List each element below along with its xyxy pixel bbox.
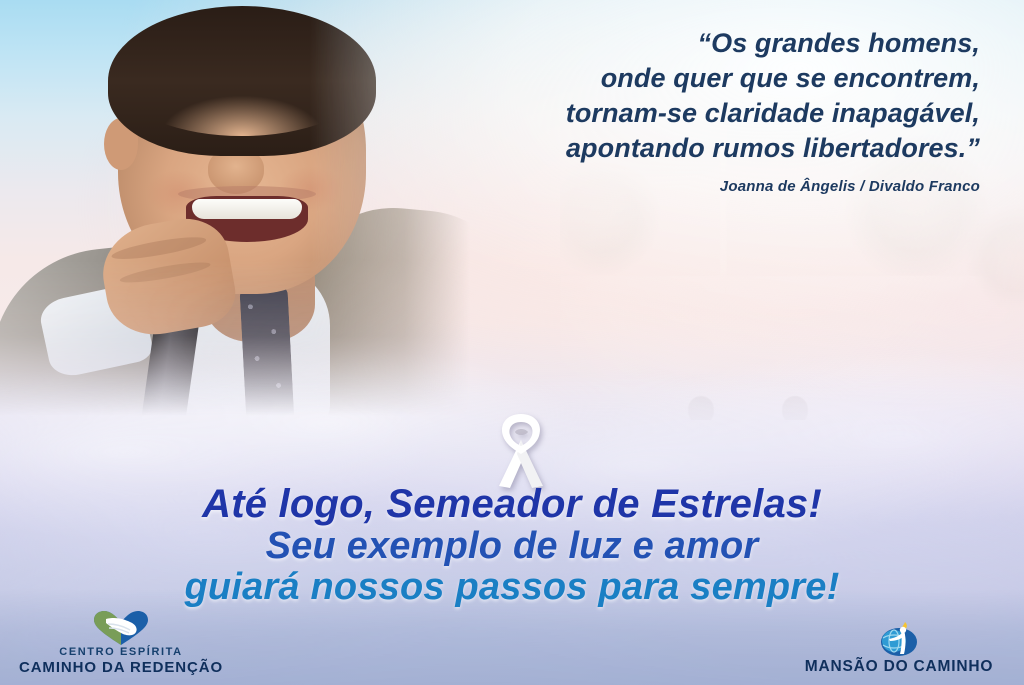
right-logo-title-large: MANSÃO DO CAMINHO (784, 658, 1014, 677)
quote-line-2: onde quer que se encontrem, (420, 61, 980, 96)
logo-centro-espirita: CENTRO ESPÍRITA CAMINHO DA REDENÇÃO (14, 610, 228, 677)
white-awareness-ribbon-icon (485, 410, 557, 488)
headline-line-1: Até logo, Semeador de Estrelas! (0, 484, 1024, 525)
headline-line-3: guiará nossos passos para sempre! (0, 568, 1024, 607)
quote-line-1: “Os grandes homens, (420, 26, 980, 61)
portrait-photo (0, 0, 470, 420)
logo-mansao-do-caminho: MANSÃO DO CAMINHO (784, 622, 1014, 677)
heart-hands-logo-icon (14, 610, 228, 646)
headline-block: Até logo, Semeador de Estrelas! Seu exem… (0, 484, 1024, 607)
quote-line-4: apontando rumos libertadores.” (420, 131, 980, 166)
memorial-poster: “Os grandes homens, onde quer que se enc… (0, 0, 1024, 685)
quote-block: “Os grandes homens, onde quer que se enc… (420, 26, 980, 195)
quote-line-3: tornam-se claridade inapagável, (420, 96, 980, 131)
necktie (239, 285, 294, 427)
left-logo-title-large: CAMINHO DA REDENÇÃO (14, 659, 228, 677)
left-logo-title-small: CENTRO ESPÍRITA (14, 646, 228, 659)
quote-attribution: Joanna de Ângelis / Divaldo Franco (420, 178, 980, 195)
headline-line-2: Seu exemplo de luz e amor (0, 527, 1024, 566)
globe-figure-flame-logo-icon (784, 622, 1014, 658)
